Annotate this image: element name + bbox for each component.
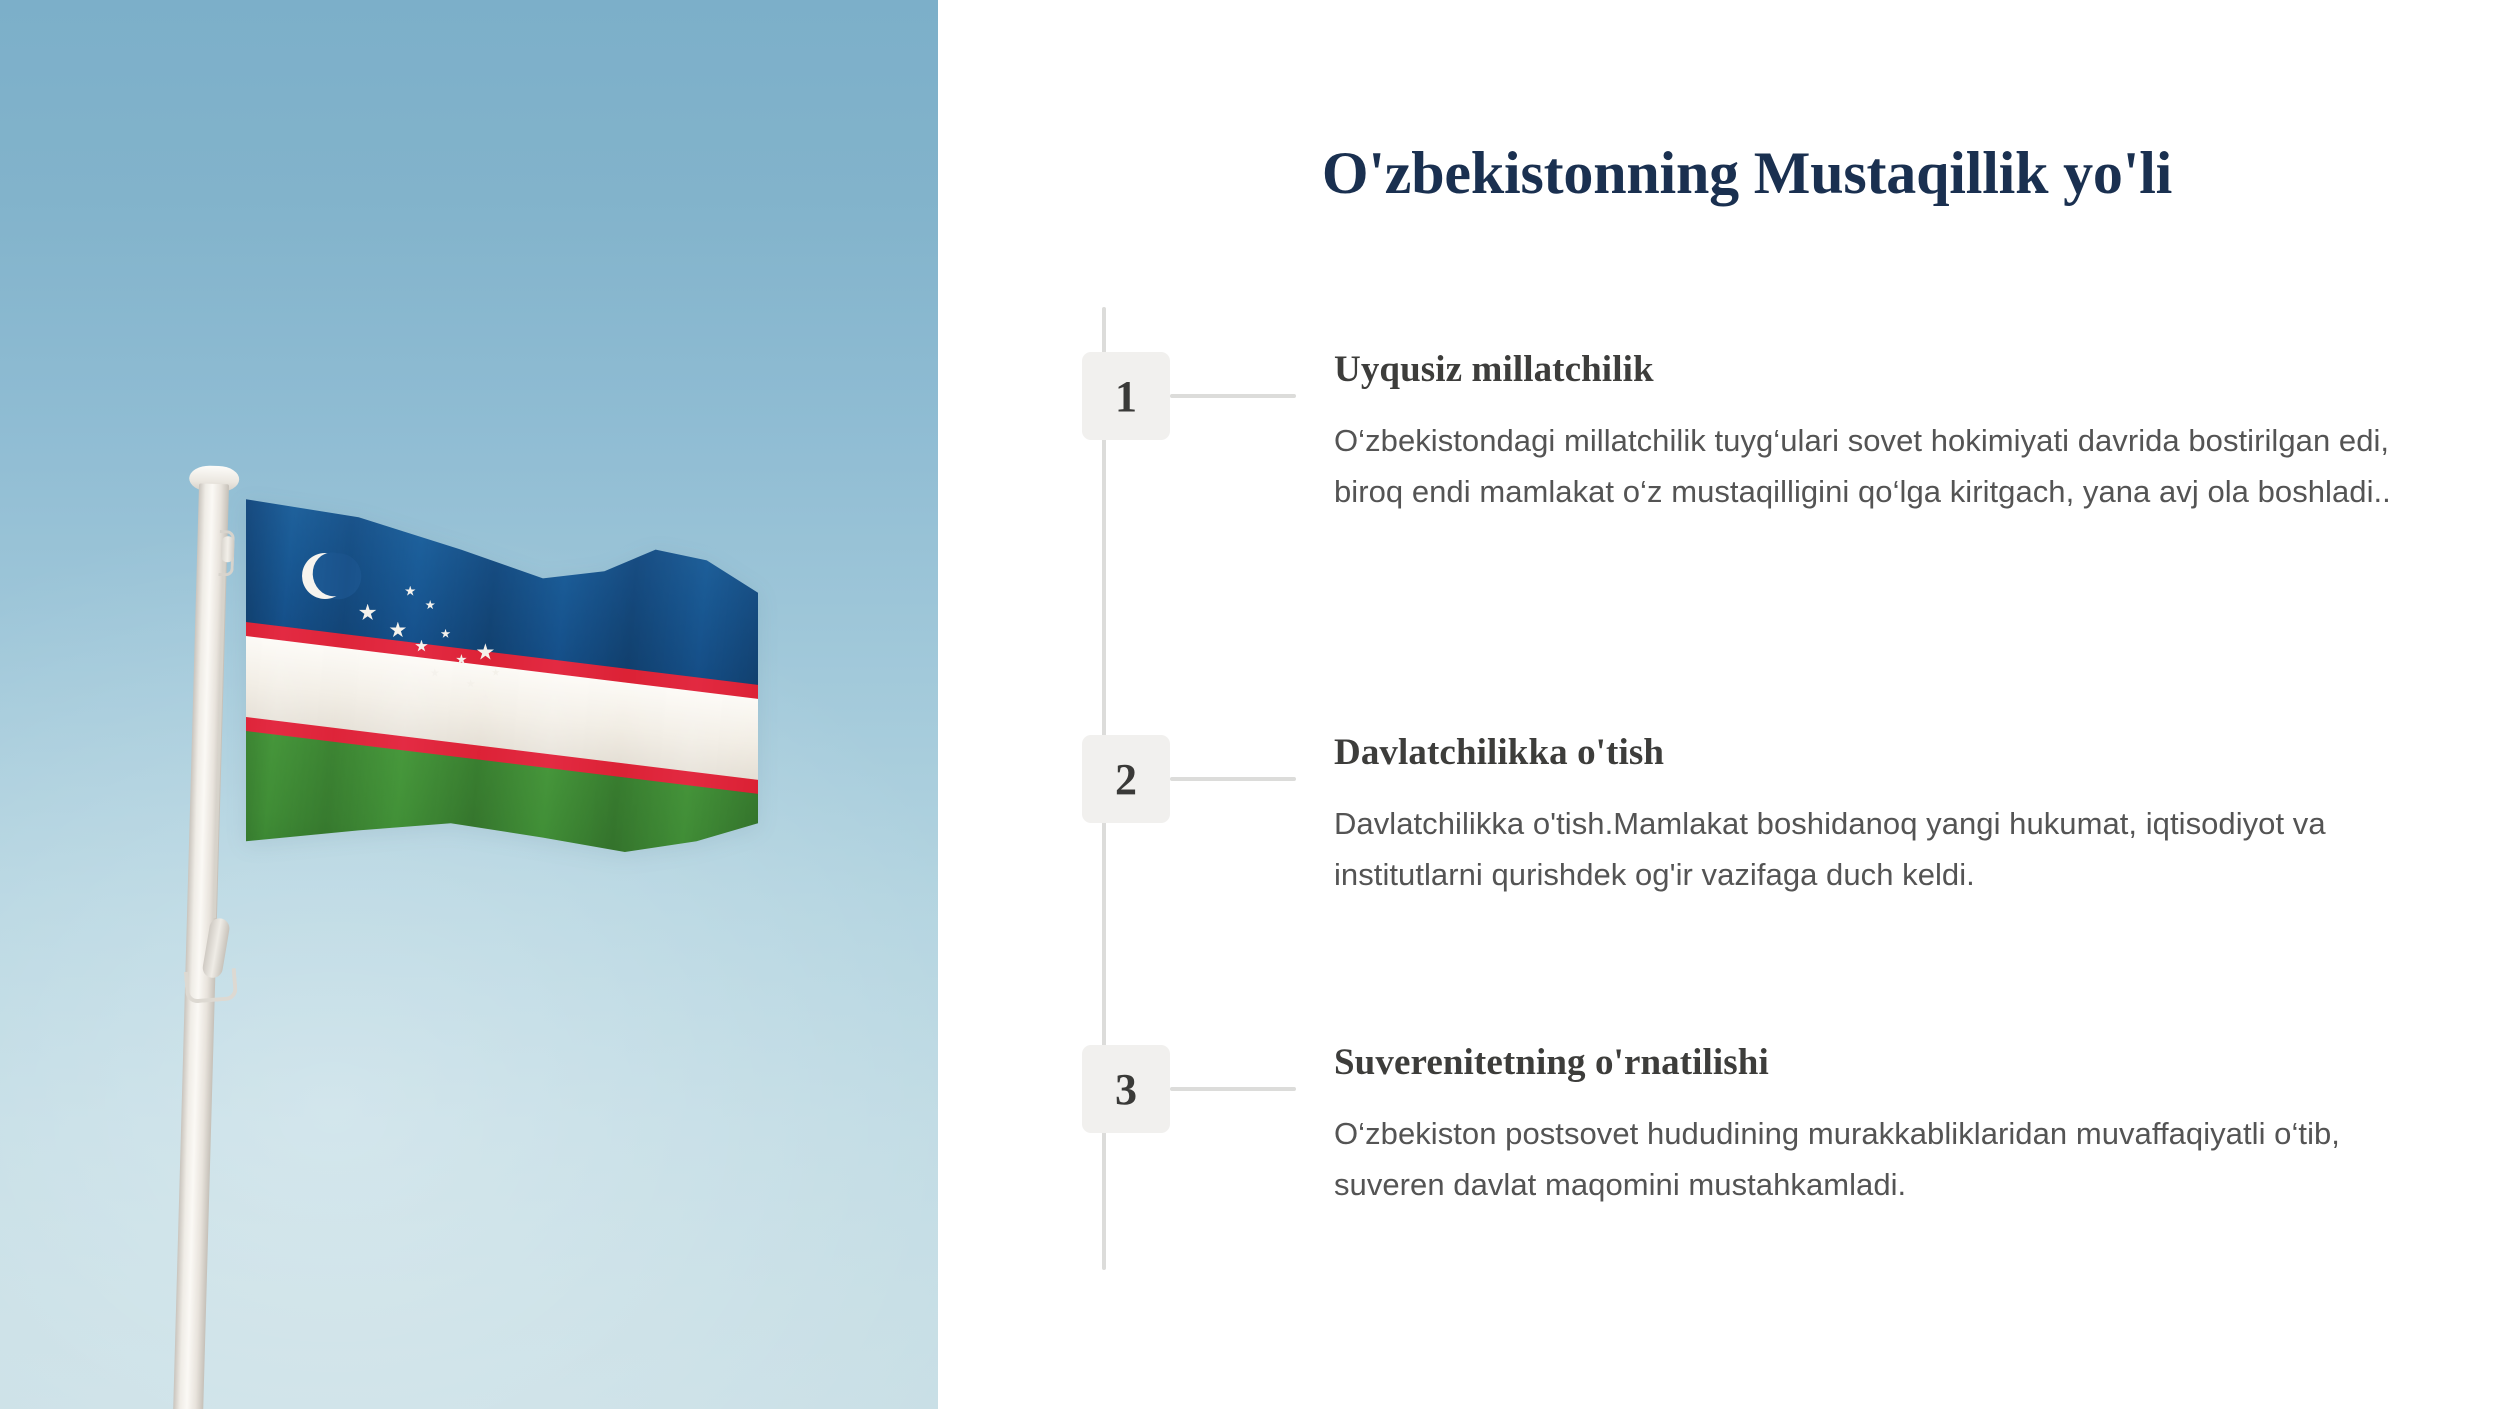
timeline-item-body: Uyqusiz millatchilik O‘zbekistondagi mil…: [1334, 348, 2414, 517]
timeline-item-heading: Davlatchilikka o'tish: [1334, 731, 2414, 775]
uzbekistan-flag: [246, 492, 758, 852]
timeline-step-badge: 3: [1082, 1045, 1170, 1133]
slide-root: O'zbekistonning Mustaqillik yo'li 1 Uyqu…: [0, 0, 2500, 1409]
timeline-step-badge: 1: [1082, 352, 1170, 440]
timeline: 1 Uyqusiz millatchilik O‘zbekistondagi m…: [938, 0, 2500, 1409]
timeline-item-heading: Uyqusiz millatchilik: [1334, 348, 2414, 392]
timeline-connector-line: [1170, 394, 1296, 398]
timeline-connector-line: [1170, 777, 1296, 781]
uzbekistan-flag-photo: [0, 0, 938, 1409]
timeline-item-heading: Suverenitetning o'rnatilishi: [1334, 1041, 2414, 1085]
flagpole-lower-cleat: [184, 968, 238, 1004]
flag-fabric: [246, 492, 758, 852]
timeline-item-text: O‘zbekistondagi millatchilik tuyg‘ulari …: [1334, 416, 2414, 516]
flagpole-upper-clip: [221, 536, 235, 562]
timeline-connector-line: [1170, 1087, 1296, 1091]
timeline-item-text: Davlatchilikka o'tish.Mamlakat boshidano…: [1334, 799, 2414, 899]
timeline-item-body: Suverenitetning o'rnatilishi O‘zbekiston…: [1334, 1041, 2414, 1210]
timeline-item-text: O‘zbekiston postsovet hududining murakka…: [1334, 1109, 2414, 1209]
timeline-item-body: Davlatchilikka o'tish Davlatchilikka o't…: [1334, 731, 2414, 900]
content-panel: O'zbekistonning Mustaqillik yo'li 1 Uyqu…: [938, 0, 2500, 1409]
timeline-step-badge: 2: [1082, 735, 1170, 823]
